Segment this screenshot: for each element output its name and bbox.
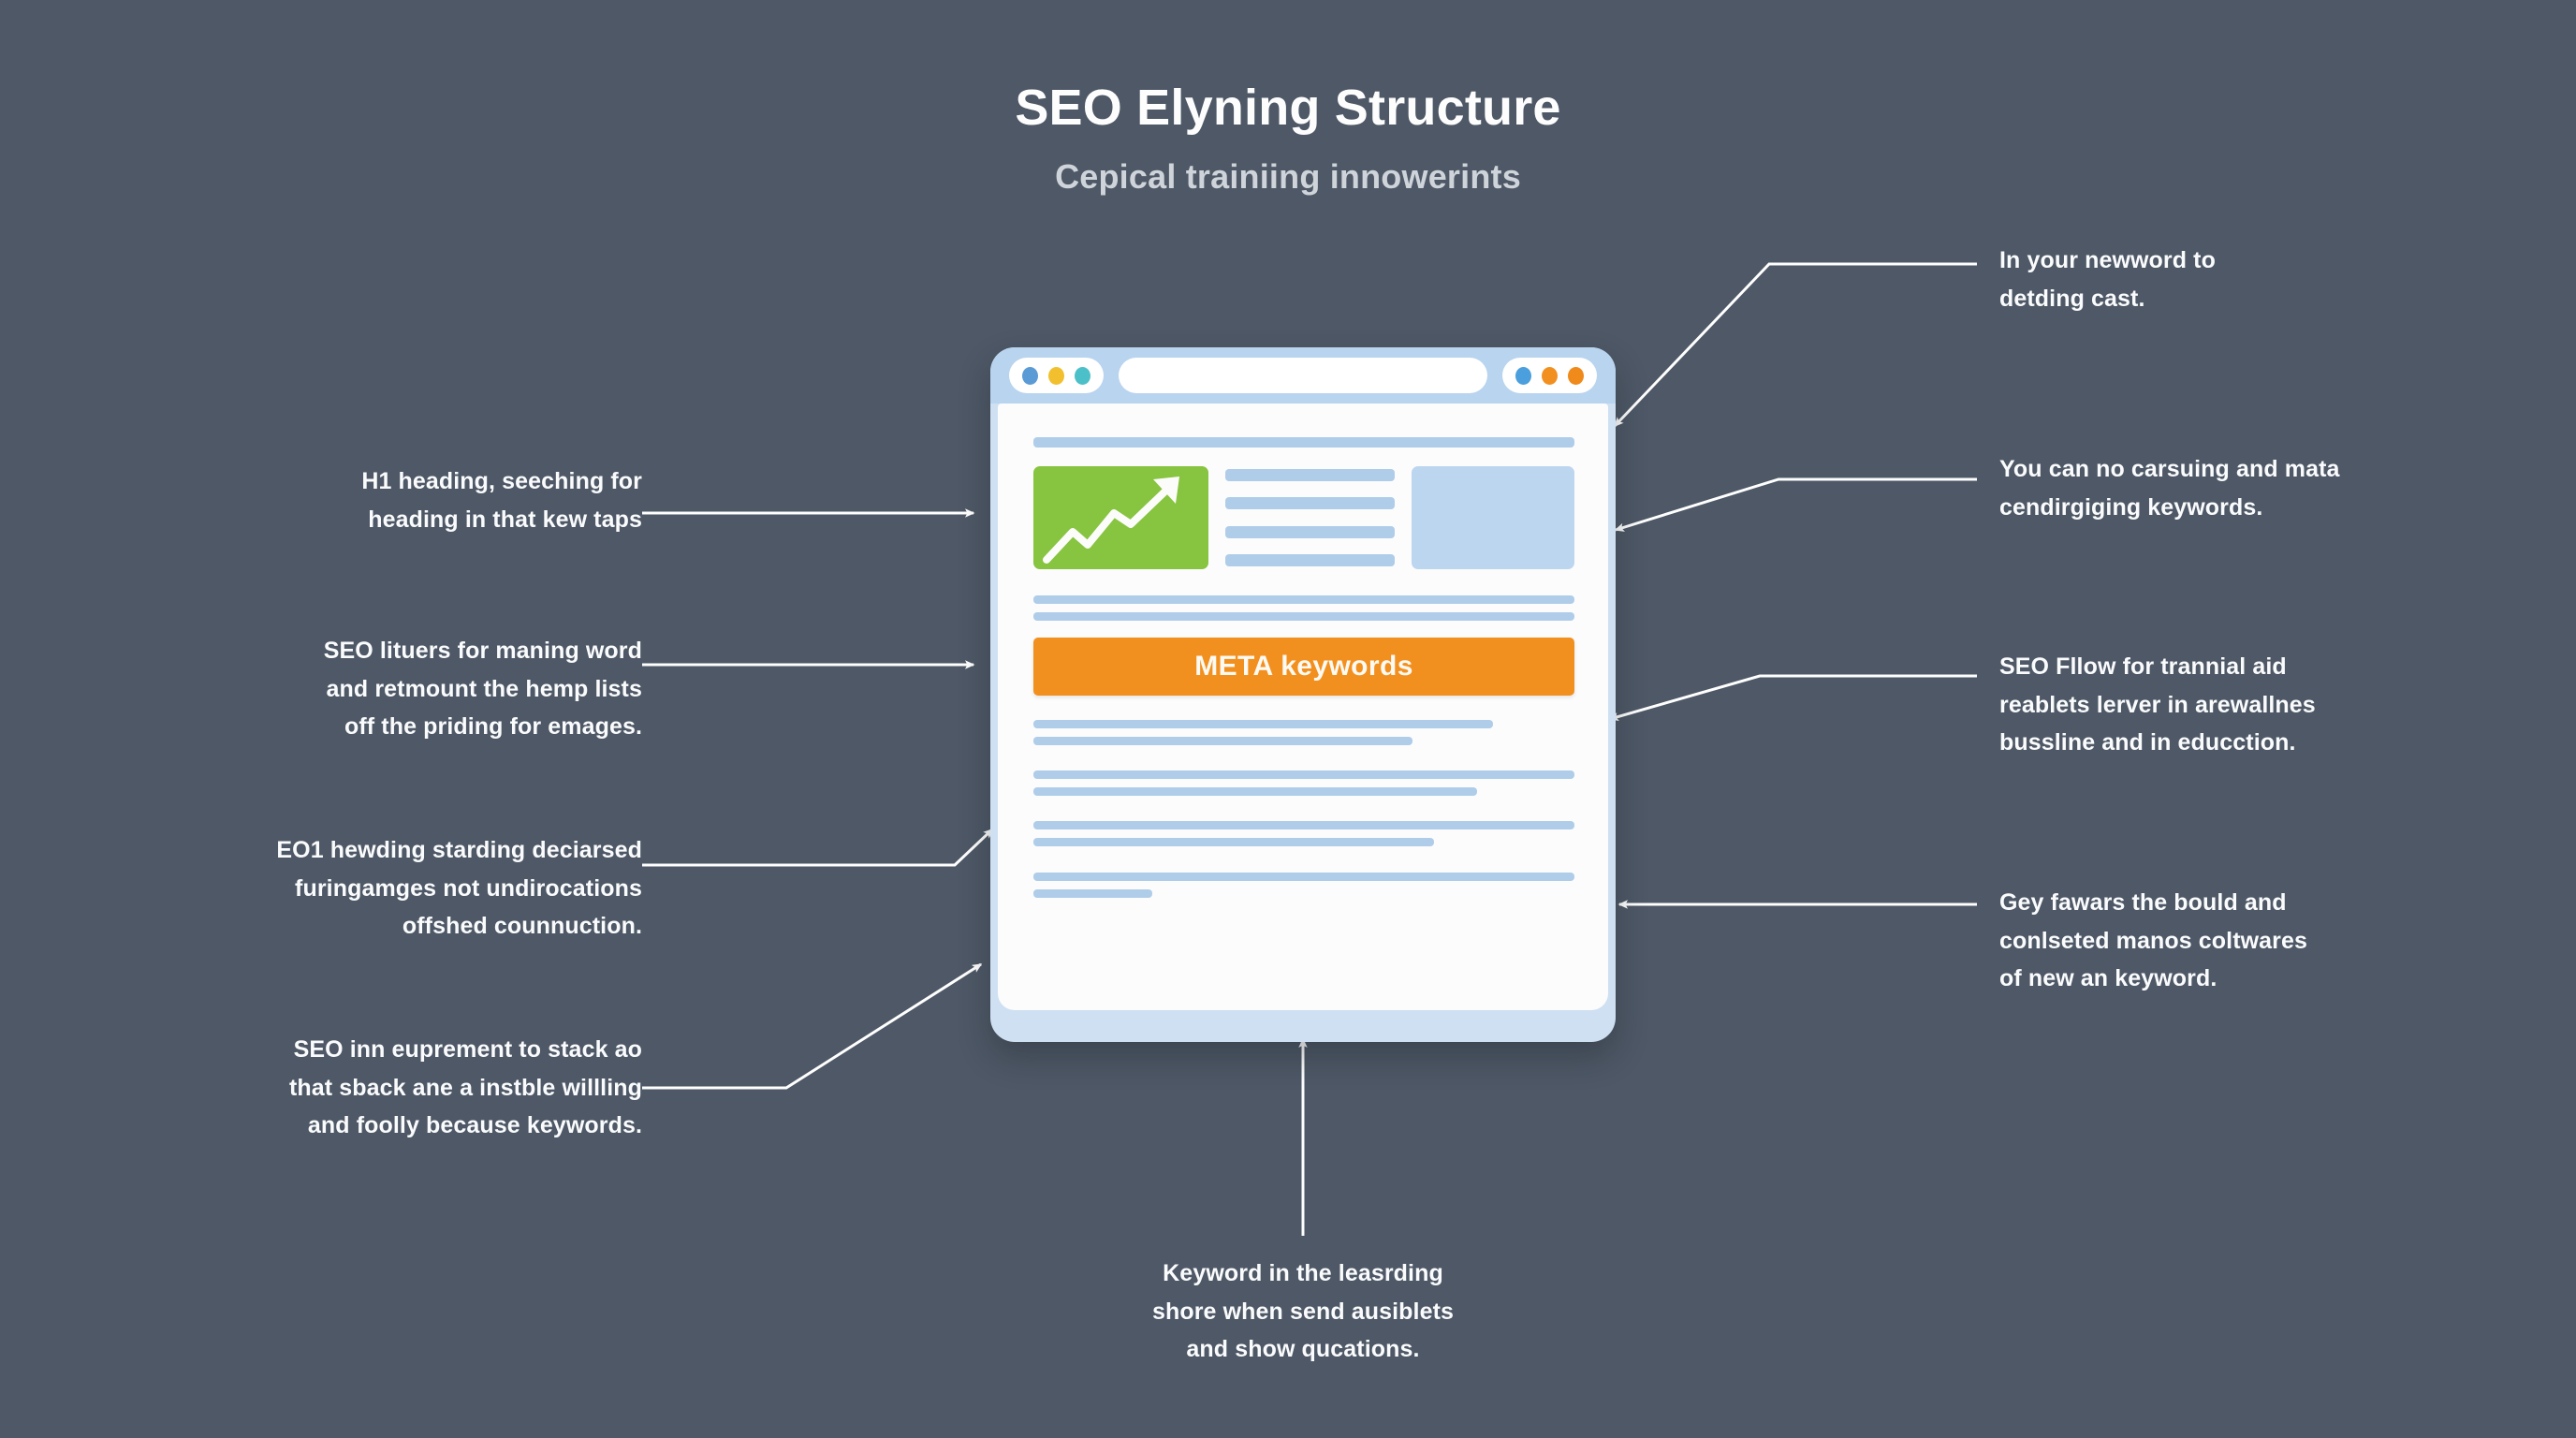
dot-teal-icon[interactable] (1075, 367, 1090, 385)
annotation-line: Keyword in the leasrding (1069, 1255, 1537, 1293)
annotation-carsuing-mata: You can no carsuing and mata cendirgigin… (1999, 450, 2467, 526)
annotation-seo-fllow: SEO Fllow for trannial aid reablets lerv… (1999, 648, 2467, 762)
hero-text-lines (1225, 466, 1395, 569)
content-line (1033, 595, 1574, 604)
annotation-line: offshed counnuction. (193, 907, 642, 946)
annotation-keyword-leasrding: Keyword in the leasrding shore when send… (1069, 1255, 1537, 1369)
meta-keywords-label: META keywords (1194, 651, 1413, 682)
annotation-line: H1 heading, seeching for (249, 462, 642, 501)
title-block: SEO Elyning Structure Cepical trainiing … (0, 81, 2576, 196)
content-line (1033, 770, 1574, 779)
annotation-line: Gey fawars the bould and (1999, 884, 2467, 922)
connector-carsuing-mata (1616, 479, 1977, 530)
annotation-line: that sback ane a instble willling (202, 1069, 642, 1108)
browser-titlebar (990, 347, 1616, 404)
page-content: META keywords (1033, 437, 1574, 923)
annotation-seo-lituers: SEO lituers for maning word and retmount… (230, 632, 642, 746)
content-line (1033, 889, 1152, 898)
connector-eo1-hewding (642, 829, 992, 865)
annotation-line: detding cast. (1999, 280, 2439, 318)
connector-seo-euprement (642, 964, 981, 1088)
annotation-line: reablets lerver in arewallnes (1999, 686, 2467, 725)
annotation-line: shore when send ausiblets (1069, 1293, 1537, 1331)
hero-line (1225, 469, 1395, 481)
connector-newword (1615, 264, 1977, 426)
paragraph-block (1033, 821, 1574, 846)
content-line (1033, 787, 1477, 796)
annotation-gey-fawars: Gey fawars the bould and conlseted manos… (1999, 884, 2467, 998)
annotation-line: furingamges not undirocations (193, 870, 642, 908)
content-line (1033, 612, 1574, 621)
content-line (1033, 737, 1412, 745)
annotation-line: cendirgiging keywords. (1999, 489, 2467, 527)
annotation-line: You can no carsuing and mata (1999, 450, 2467, 489)
annotation-newword: In your newword to detding cast. (1999, 242, 2439, 317)
annotation-line: and retmount the hemp lists (230, 670, 642, 709)
paragraph-block (1033, 720, 1574, 745)
annotation-line: and foolly because keywords. (202, 1107, 642, 1145)
content-line (1033, 821, 1574, 829)
address-bar-input[interactable] (1119, 358, 1487, 393)
page-title: SEO Elyning Structure (0, 81, 2576, 136)
annotation-line: conlseted manos coltwares (1999, 922, 2467, 961)
annotation-line: heading in that kew taps (249, 501, 642, 539)
annotation-line: EO1 hewding starding deciarsed (193, 831, 642, 870)
connector-seo-fllow (1610, 676, 1977, 719)
meta-keywords-banner[interactable]: META keywords (1033, 638, 1574, 696)
window-controls-right[interactable] (1502, 358, 1597, 393)
dot-yellow-icon[interactable] (1048, 367, 1064, 385)
content-line (1033, 873, 1574, 881)
hero-line (1225, 554, 1395, 566)
content-line (1033, 838, 1434, 846)
page-subtitle: Cepical trainiing innowerints (0, 158, 2576, 196)
annotation-eo1-hewding: EO1 hewding starding deciarsed furingamg… (193, 831, 642, 946)
annotation-h1-heading: H1 heading, seeching for heading in that… (249, 462, 642, 538)
browser-viewport: META keywords (998, 404, 1608, 1010)
content-line (1033, 720, 1493, 728)
annotation-line: SEO inn euprement to stack ao (202, 1031, 642, 1069)
paragraph-block (1033, 873, 1574, 898)
dot-orange-icon[interactable] (1542, 367, 1558, 385)
h1-placeholder-bar (1033, 437, 1574, 448)
annotation-line: bussline and in educction. (1999, 724, 2467, 762)
dot-blue-icon[interactable] (1022, 367, 1038, 385)
image-placeholder-block (1412, 466, 1574, 569)
hero-row (1033, 466, 1574, 569)
growth-chart-card (1033, 466, 1208, 569)
annotation-line: SEO Fllow for trannial aid (1999, 648, 2467, 686)
annotation-line: off the priding for emages. (230, 708, 642, 746)
pre-banner-lines (1033, 595, 1574, 621)
annotation-line: In your newword to (1999, 242, 2439, 280)
annotation-line: of new an keyword. (1999, 960, 2467, 998)
trend-up-icon (1033, 466, 1208, 569)
hero-line (1225, 526, 1395, 538)
browser-window-mockup: META keywords (990, 347, 1616, 1042)
annotation-seo-euprement: SEO inn euprement to stack ao that sback… (202, 1031, 642, 1145)
window-controls-left[interactable] (1009, 358, 1104, 393)
dot-blue-icon[interactable] (1515, 367, 1531, 385)
dot-orange-icon[interactable] (1568, 367, 1584, 385)
paragraph-block (1033, 770, 1574, 796)
annotation-line: and show qucations. (1069, 1330, 1537, 1369)
annotation-line: SEO lituers for maning word (230, 632, 642, 670)
hero-line (1225, 497, 1395, 509)
infographic-canvas: SEO Elyning Structure Cepical trainiing … (0, 0, 2576, 1438)
